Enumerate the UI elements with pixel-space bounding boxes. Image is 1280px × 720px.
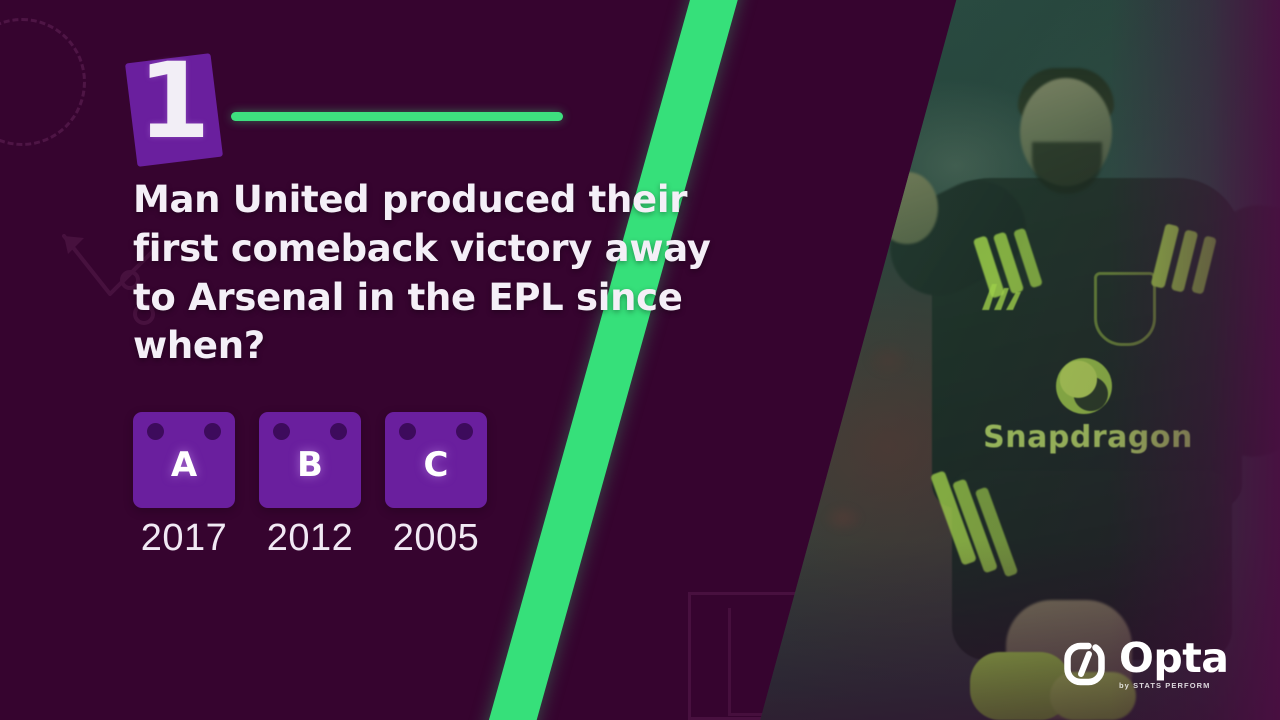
question-number-badge: 1 — [131, 58, 217, 162]
answer-card-a[interactable]: A — [133, 412, 235, 508]
answer-option-b[interactable]: B 2012 — [259, 412, 361, 560]
accent-line — [231, 112, 563, 121]
opta-text: Opta by STATS PERFORM — [1119, 638, 1228, 690]
card-hole-icon — [399, 423, 416, 440]
answer-options: A 2017 B 2012 C 2005 — [133, 412, 487, 560]
photo-vignette-overlay — [720, 0, 1280, 720]
opta-tagline: by STATS PERFORM — [1119, 682, 1228, 690]
answer-letter-b: B — [297, 445, 323, 485]
pitch-circle-motif-icon — [0, 18, 86, 146]
answer-card-c[interactable]: C — [385, 412, 487, 508]
answer-value-c: 2005 — [385, 517, 487, 560]
player-photo: Snapdragon — [720, 0, 1280, 720]
opta-wordmark: Opta — [1119, 638, 1228, 679]
question-number: 1 — [131, 40, 217, 162]
answer-value-b: 2012 — [259, 517, 361, 560]
card-hole-icon — [204, 423, 221, 440]
answer-letter-c: C — [424, 445, 449, 485]
answer-letter-a: A — [171, 445, 197, 485]
card-hole-icon — [273, 423, 290, 440]
card-hole-icon — [330, 423, 347, 440]
card-hole-icon — [147, 423, 164, 440]
quiz-slide: Snapdragon 1 Man United produced their f… — [0, 0, 1280, 720]
answer-option-a[interactable]: A 2017 — [133, 412, 235, 560]
card-hole-icon — [456, 423, 473, 440]
opta-logo: Opta by STATS PERFORM — [1062, 638, 1228, 690]
opta-mark-icon — [1062, 641, 1108, 687]
answer-value-a: 2017 — [133, 517, 235, 560]
answer-option-c[interactable]: C 2005 — [385, 412, 487, 560]
answer-card-b[interactable]: B — [259, 412, 361, 508]
question-text: Man United produced their first comeback… — [133, 176, 763, 371]
